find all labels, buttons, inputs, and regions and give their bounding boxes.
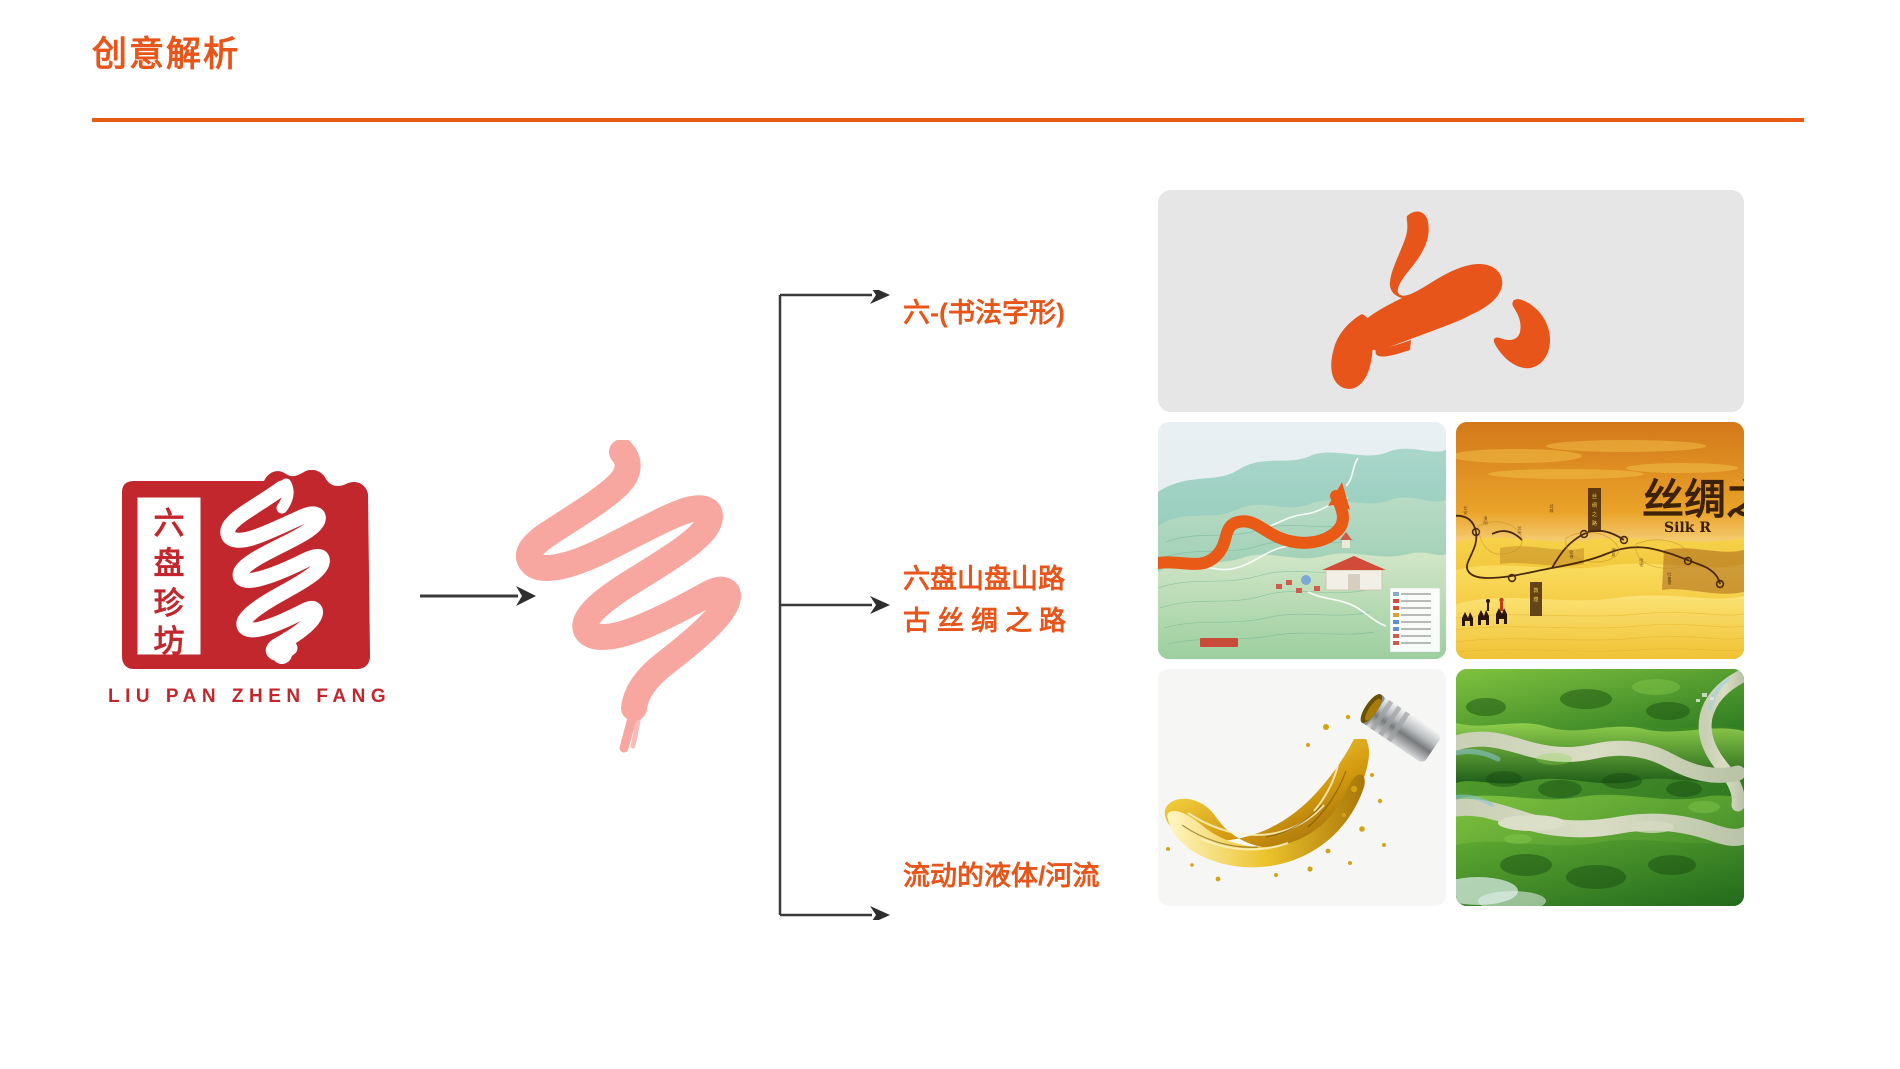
branch-label-road-line2: 古丝绸之路 xyxy=(903,601,1073,643)
branch-label-road-line1: 六盘山盘山路 xyxy=(903,559,1073,601)
winding-river-tile xyxy=(1456,669,1744,906)
svg-text:绸: 绸 xyxy=(1592,501,1597,509)
brand-logo-block: 六 盘 珍 坊 LIU PAN ZHEN FANG xyxy=(108,470,388,708)
svg-text:哈密: 哈密 xyxy=(1639,557,1645,568)
tile-row-road: 丝 绸 之 路 敦 煌 长安 洛阳 兰州 武威 张掖 酒泉 哈密 xyxy=(1158,422,1744,659)
seal-logo-icon: 六 盘 珍 坊 xyxy=(114,470,382,680)
tile-row-calligraphy xyxy=(1158,190,1744,412)
branch-label-calligraphy: 六-(书法字形) xyxy=(903,293,1065,335)
svg-text:武威: 武威 xyxy=(1549,503,1555,514)
svg-text:之: 之 xyxy=(1592,510,1597,518)
branch-label-liquid: 流动的液体/河流 xyxy=(903,856,1100,898)
branch-label-road: 六盘山盘山路 古丝绸之路 xyxy=(903,559,1073,643)
svg-text:敦: 敦 xyxy=(1533,586,1539,594)
logo-pinyin-text: LIU PAN ZHEN FANG xyxy=(108,686,388,708)
svg-text:丝: 丝 xyxy=(1592,492,1597,500)
svg-text:Silk R: Silk R xyxy=(1664,520,1711,536)
svg-text:珍: 珍 xyxy=(154,586,186,622)
svg-text:张掖: 张掖 xyxy=(1569,549,1575,560)
svg-text:丝绸之: 丝绸之 xyxy=(1642,475,1744,524)
svg-text:洛阳: 洛阳 xyxy=(1483,515,1489,526)
svg-text:兰州: 兰州 xyxy=(1518,525,1523,535)
svg-text:坊: 坊 xyxy=(154,624,185,660)
svg-text:吐鲁番: 吐鲁番 xyxy=(1667,572,1673,586)
svg-text:六: 六 xyxy=(154,506,185,542)
svg-text:路: 路 xyxy=(1592,519,1598,527)
calligraphy-liu-character-tile xyxy=(1158,190,1744,412)
svg-text:长安: 长安 xyxy=(1463,505,1469,516)
pouring-oil-tile xyxy=(1158,669,1446,906)
pink-calligraphy-stroke-icon xyxy=(500,440,770,760)
silk-road-desert-tile: 丝 绸 之 路 敦 煌 长安 洛阳 兰州 武威 张掖 酒泉 哈密 xyxy=(1456,422,1744,659)
page-title: 创意解析 xyxy=(92,36,240,75)
branch-bracket xyxy=(760,290,900,920)
tile-row-liquid xyxy=(1158,669,1744,906)
title-divider xyxy=(92,118,1804,122)
svg-text:煌: 煌 xyxy=(1533,595,1538,603)
svg-text:酒泉: 酒泉 xyxy=(1611,547,1617,557)
svg-text:盘: 盘 xyxy=(154,546,185,582)
mountain-road-map-tile xyxy=(1158,422,1446,659)
reference-image-grid: 丝 绸 之 路 敦 煌 长安 洛阳 兰州 武威 张掖 酒泉 哈密 xyxy=(1158,190,1744,916)
